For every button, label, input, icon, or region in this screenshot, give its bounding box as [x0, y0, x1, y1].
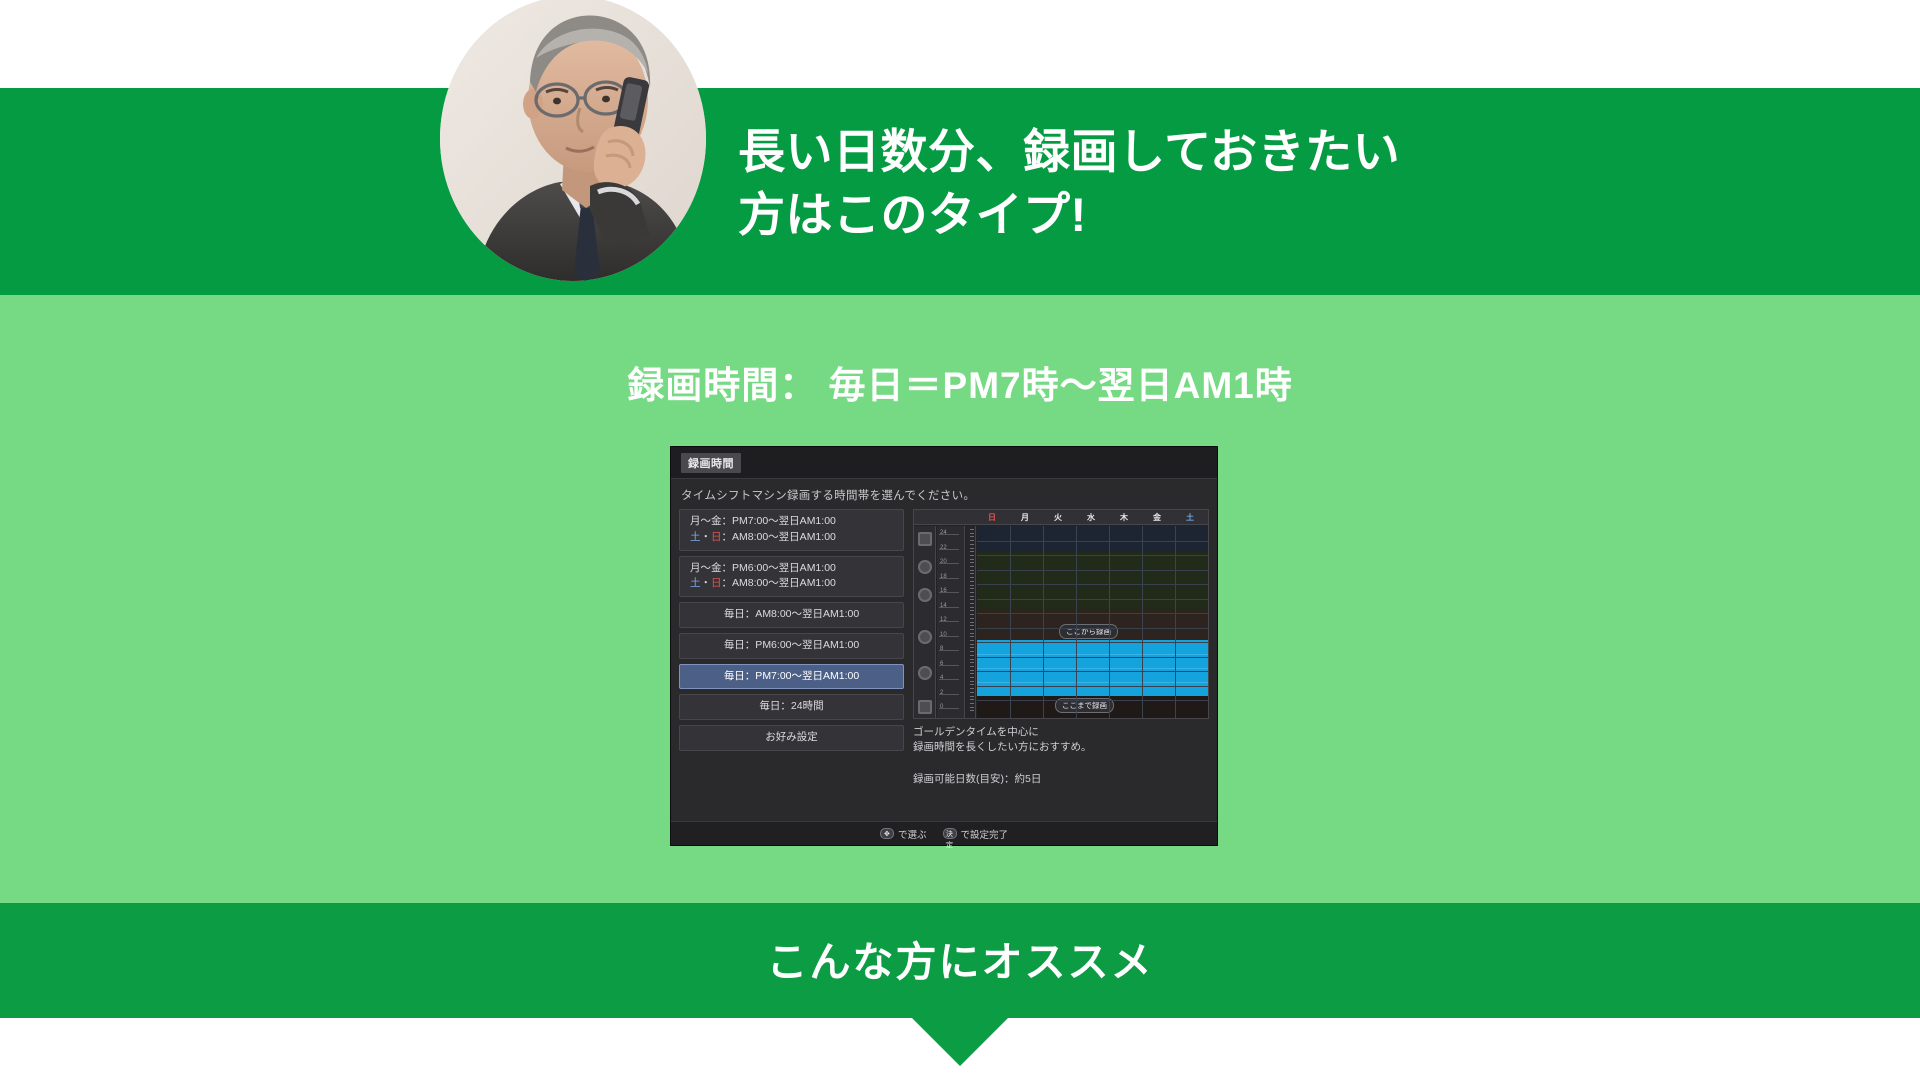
grid-hline: [977, 541, 1208, 542]
scale-tick: [970, 585, 974, 586]
hour-label-12: 12: [940, 617, 947, 623]
opt-everyday-pm6-label: 毎日：PM6:00〜翌日AM1:00: [686, 638, 897, 654]
scale-tick: [970, 599, 974, 600]
opt-weekday-pm6-line2: 土・日：AM8:00〜翌日AM1:00: [690, 576, 897, 592]
grid-hline: [977, 613, 1208, 614]
scale-tick: [970, 625, 974, 626]
hour-label-16: 16: [940, 588, 947, 594]
grid-hline: [977, 671, 1208, 672]
scale-tick: [970, 688, 974, 689]
hour-label-22: 22: [940, 545, 947, 551]
hour-tick-20: [939, 563, 959, 564]
recording-time-option-list[interactable]: 月〜金：PM7:00〜翌日AM1:00土・日：AM8:00〜翌日AM1:00月〜…: [679, 509, 904, 756]
scale-tick: [970, 581, 974, 582]
hour-label-10: 10: [940, 632, 947, 638]
hour-tick-2: [939, 694, 959, 695]
mode-icon-1: [918, 532, 932, 546]
subtitle: 録画時間： 毎日＝PM7時〜翌日AM1時: [0, 355, 1920, 409]
statusbar-item-0: ✥で選ぶ: [880, 827, 927, 841]
mode-icon-4: [918, 630, 932, 644]
hour-label-6: 6: [940, 661, 943, 667]
header-heading-line1: 長い日数分、録画しておきたい: [738, 120, 1638, 183]
device-title: 録画時間: [681, 453, 741, 473]
hour-label-24: 24: [940, 530, 947, 536]
grid-hline: [977, 599, 1208, 600]
opt-custom-label: お好み設定: [686, 730, 897, 746]
grid-hline: [977, 686, 1208, 687]
page-root: 長い日数分、録画しておきたい 方はこのタイプ! 録画時間： 毎日＝PM7時〜翌日…: [0, 0, 1920, 1080]
scale-tick: [970, 677, 974, 678]
hour-label-20: 20: [940, 559, 947, 565]
hour-tick-8: [939, 650, 959, 651]
footer-heading: こんな方にオススメ: [0, 928, 1920, 988]
grid-chart-area: ここから録画 ここまで録画: [977, 526, 1208, 718]
scale-tick: [970, 529, 974, 530]
statusbar-item-1: 決定で設定完了: [943, 827, 1009, 841]
scale-tick: [970, 659, 974, 660]
scale-tick: [970, 640, 974, 641]
label-sunday: 日: [711, 531, 722, 543]
opt-weekday-pm7[interactable]: 月〜金：PM7:00〜翌日AM1:00土・日：AM8:00〜翌日AM1:00: [679, 509, 904, 551]
grid-hline: [977, 628, 1208, 629]
scale-tick: [970, 673, 974, 674]
zone-night: [977, 526, 1208, 552]
scale-tick: [970, 684, 974, 685]
hour-tick-22: [939, 549, 959, 550]
scale-tick: [970, 703, 974, 704]
businessman-on-phone-photo: [440, 0, 706, 281]
opt-custom[interactable]: お好み設定: [679, 725, 904, 751]
grid-hline: [977, 657, 1208, 658]
grid-hline: [977, 642, 1208, 643]
scale-tick: [970, 692, 974, 693]
hour-tick-24: [939, 534, 959, 535]
opt-everyday-am8-label: 毎日：AM8:00〜翌日AM1:00: [686, 607, 897, 623]
label-time-range: 月〜金：PM7:00〜翌日AM1:00: [690, 515, 836, 527]
hour-tick-4: [939, 679, 959, 680]
statusbar-label-1: で設定完了: [961, 827, 1009, 841]
scale-tick: [970, 551, 974, 552]
grid-hline: [977, 584, 1208, 585]
scale-tick: [970, 577, 974, 578]
hour-tick-6: [939, 665, 959, 666]
grid-day-2: 火: [1042, 512, 1074, 523]
grid-day-5: 金: [1141, 512, 1173, 523]
device-note-line2: 録画時間を長くしたい方におすすめ。: [913, 740, 1209, 755]
scale-tick: [970, 607, 974, 608]
device-screenshot: 録画時間 タイムシフトマシン録画する時間帯を選んでください。 月〜金：PM7:0…: [670, 446, 1218, 846]
scale-tick: [970, 533, 974, 534]
statusbar-label-0: で選ぶ: [898, 827, 927, 841]
header-heading: 長い日数分、録画しておきたい 方はこのタイプ!: [738, 120, 1638, 247]
avatar: [440, 0, 706, 281]
scale-tick: [970, 662, 974, 663]
scale-tick: [970, 651, 974, 652]
grid-day-6: 土: [1174, 512, 1206, 523]
scale-tick: [970, 592, 974, 593]
scale-tick: [970, 555, 974, 556]
label-separator: ・: [701, 531, 712, 543]
selected-hline: [977, 682, 1208, 683]
mode-icon-5: [918, 666, 932, 680]
scale-tick: [970, 610, 974, 611]
label-sunday: 日: [711, 577, 722, 589]
device-statusbar: ✥で選ぶ決定で設定完了: [671, 821, 1217, 845]
statusbar-key-icon-0: ✥: [880, 828, 894, 839]
label-time-range: ：AM8:00〜翌日AM1:00: [722, 531, 836, 543]
scale-tick: [970, 596, 974, 597]
grid-day-3: 水: [1075, 512, 1107, 523]
hour-tick-14: [939, 607, 959, 608]
scale-tick: [970, 636, 974, 637]
hour-label-8: 8: [940, 646, 943, 652]
scale-tick: [970, 644, 974, 645]
scale-tick: [970, 666, 974, 667]
label-separator: ・: [701, 577, 712, 589]
grid-mode-iconbar: [914, 526, 936, 718]
device-note: ゴールデンタイムを中心に 録画時間を長くしたい方におすすめ。: [913, 725, 1209, 755]
hour-label-0: 0: [940, 704, 943, 710]
label-saturday: 土: [690, 577, 701, 589]
scale-tick: [970, 622, 974, 623]
hour-label-4: 4: [940, 675, 943, 681]
opt-everyday-24h[interactable]: 毎日：24時間: [679, 694, 904, 720]
grid-day-4: 木: [1108, 512, 1140, 523]
scale-tick: [970, 570, 974, 571]
weekly-schedule-grid[interactable]: 日月火水木金土 242220181614121086420: [913, 509, 1209, 719]
scale-tick: [970, 710, 974, 711]
grid-day-header: 日月火水木金土: [914, 510, 1208, 525]
grid-hline: [977, 700, 1208, 701]
zone-daytime: [977, 552, 1208, 610]
device-titlebar: 録画時間: [671, 447, 1217, 479]
scale-tick: [970, 707, 974, 708]
scale-tick: [970, 562, 974, 563]
statusbar-key-icon-1: 決定: [943, 828, 957, 839]
mode-icon-6: [918, 700, 932, 714]
scale-tick: [970, 573, 974, 574]
grid-day-1: 月: [1009, 512, 1041, 523]
grid-scale-ticks: [966, 526, 976, 718]
hour-label-18: 18: [940, 574, 947, 580]
device-instruction: タイムシフトマシン録画する時間帯を選んでください。: [681, 487, 975, 503]
scale-tick: [970, 536, 974, 537]
scale-tick: [970, 696, 974, 697]
mode-icon-2: [918, 560, 932, 574]
device-capacity: 録画可能日数(目安)：約5日: [913, 771, 1209, 786]
opt-weekday-pm7-line1: 月〜金：PM7:00〜翌日AM1:00: [690, 514, 897, 530]
scale-tick: [970, 614, 974, 615]
scale-tick: [970, 699, 974, 700]
opt-weekday-pm6[interactable]: 月〜金：PM6:00〜翌日AM1:00土・日：AM8:00〜翌日AM1:00: [679, 556, 904, 598]
scale-tick: [970, 540, 974, 541]
scale-tick: [970, 681, 974, 682]
selected-hline: [977, 654, 1208, 655]
scale-tick: [970, 670, 974, 671]
selected-hline: [977, 668, 1208, 669]
scale-tick: [970, 633, 974, 634]
hour-tick-18: [939, 578, 959, 579]
mode-icon-3: [918, 588, 932, 602]
opt-everyday-am8[interactable]: 毎日：AM8:00〜翌日AM1:00: [679, 602, 904, 628]
scale-tick: [970, 548, 974, 549]
opt-everyday-pm7-label: 毎日：PM7:00〜翌日AM1:00: [686, 669, 897, 685]
opt-weekday-pm7-line2: 土・日：AM8:00〜翌日AM1:00: [690, 530, 897, 546]
opt-weekday-pm6-line1: 月〜金：PM6:00〜翌日AM1:00: [690, 561, 897, 577]
grid-hline: [977, 570, 1208, 571]
scale-tick: [970, 559, 974, 560]
grid-hline: [977, 555, 1208, 556]
opt-everyday-pm6[interactable]: 毎日：PM6:00〜翌日AM1:00: [679, 633, 904, 659]
scale-tick: [970, 647, 974, 648]
scale-tick: [970, 544, 974, 545]
header-heading-line2: 方はこのタイプ!: [738, 183, 1638, 246]
scale-tick: [970, 618, 974, 619]
label-saturday: 土: [690, 531, 701, 543]
zone-selected-recording: [977, 640, 1208, 696]
hour-tick-16: [939, 592, 959, 593]
grid-day-0: 日: [976, 512, 1008, 523]
scale-tick: [970, 566, 974, 567]
down-arrow-icon: [912, 1018, 1008, 1066]
opt-everyday-24h-label: 毎日：24時間: [686, 699, 897, 715]
label-time-range: ：AM8:00〜翌日AM1:00: [722, 577, 836, 589]
hour-tick-12: [939, 621, 959, 622]
scale-tick: [970, 629, 974, 630]
scale-tick: [970, 603, 974, 604]
grid-hour-ruler: 242220181614121086420: [937, 526, 965, 718]
device-body: 月〜金：PM7:00〜翌日AM1:00土・日：AM8:00〜翌日AM1:00月〜…: [671, 503, 1219, 793]
hour-label-2: 2: [940, 690, 943, 696]
opt-everyday-pm7[interactable]: 毎日：PM7:00〜翌日AM1:00: [679, 664, 904, 690]
hour-tick-0: [939, 708, 959, 709]
scale-tick: [970, 655, 974, 656]
hour-tick-10: [939, 636, 959, 637]
scale-tick: [970, 588, 974, 589]
label-time-range: 月〜金：PM6:00〜翌日AM1:00: [690, 562, 836, 574]
device-note-line1: ゴールデンタイムを中心に: [913, 725, 1209, 740]
hour-label-14: 14: [940, 603, 947, 609]
